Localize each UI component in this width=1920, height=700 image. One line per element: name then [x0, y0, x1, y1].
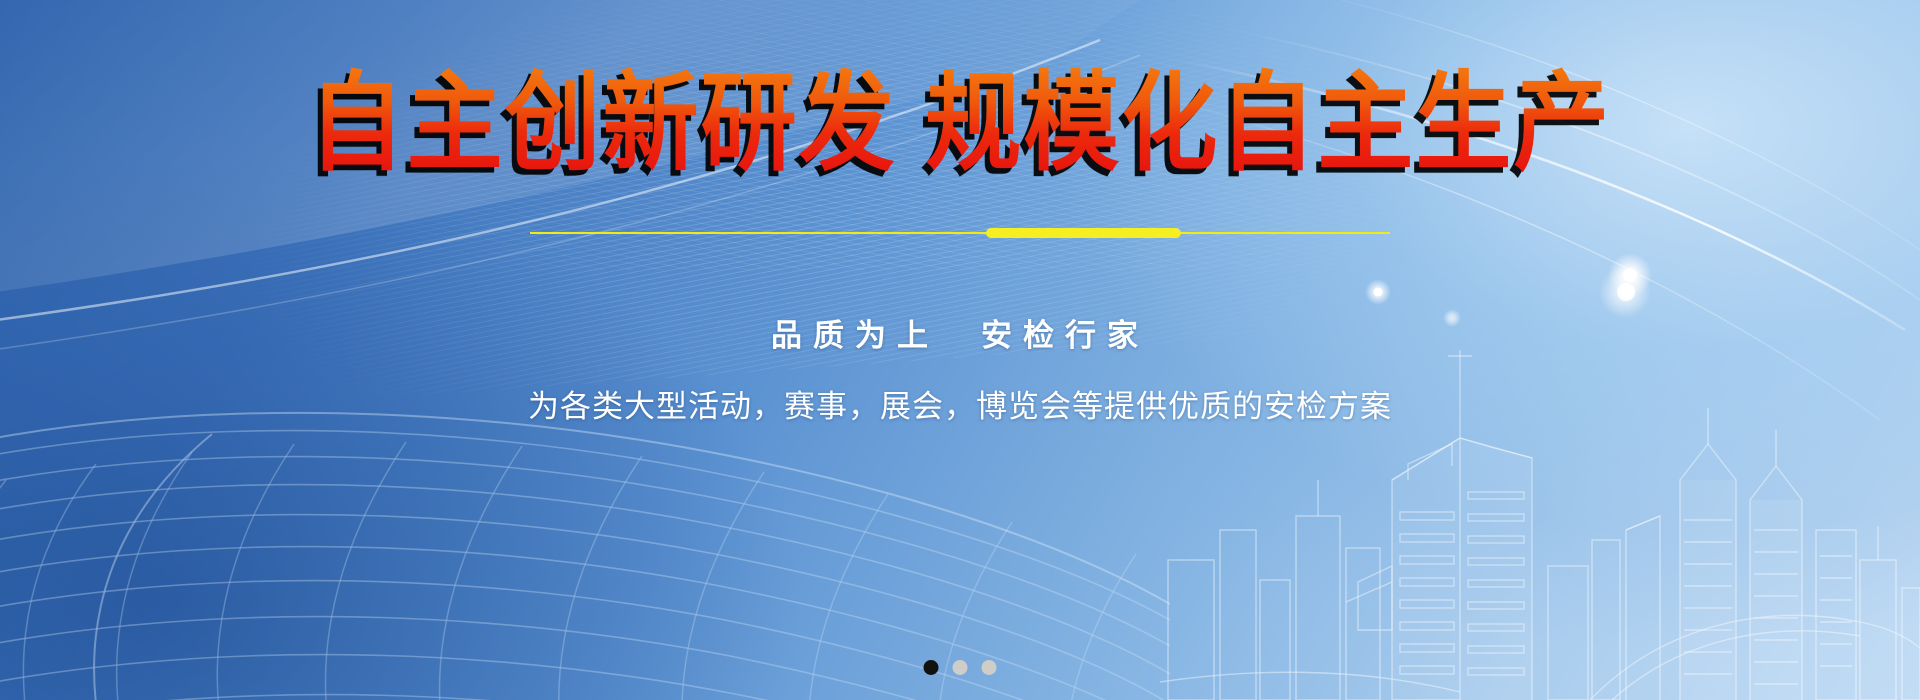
banner-subtext: 为各类大型活动，赛事，展会，博览会等提供优质的安检方案: [528, 381, 1392, 426]
divider: [530, 228, 1390, 238]
banner-headline: 自主创新研发 规模化自主生产: [309, 66, 1612, 182]
divider-thick-segment: [986, 228, 1181, 238]
hero-banner: 自主创新研发 规模化自主生产 品质为上 安检行家 为各类大型活动，赛事，展会，博…: [0, 0, 1920, 700]
banner-tagline: 品质为上 安检行家: [771, 310, 1149, 355]
divider-thin-line: [530, 232, 1390, 234]
carousel-dots[interactable]: [924, 660, 997, 675]
carousel-dot-3[interactable]: [982, 660, 997, 675]
carousel-dot-1[interactable]: [924, 660, 939, 675]
banner-content: 自主创新研发 规模化自主生产 品质为上 安检行家 为各类大型活动，赛事，展会，博…: [0, 0, 1920, 700]
carousel-dot-2[interactable]: [953, 660, 968, 675]
